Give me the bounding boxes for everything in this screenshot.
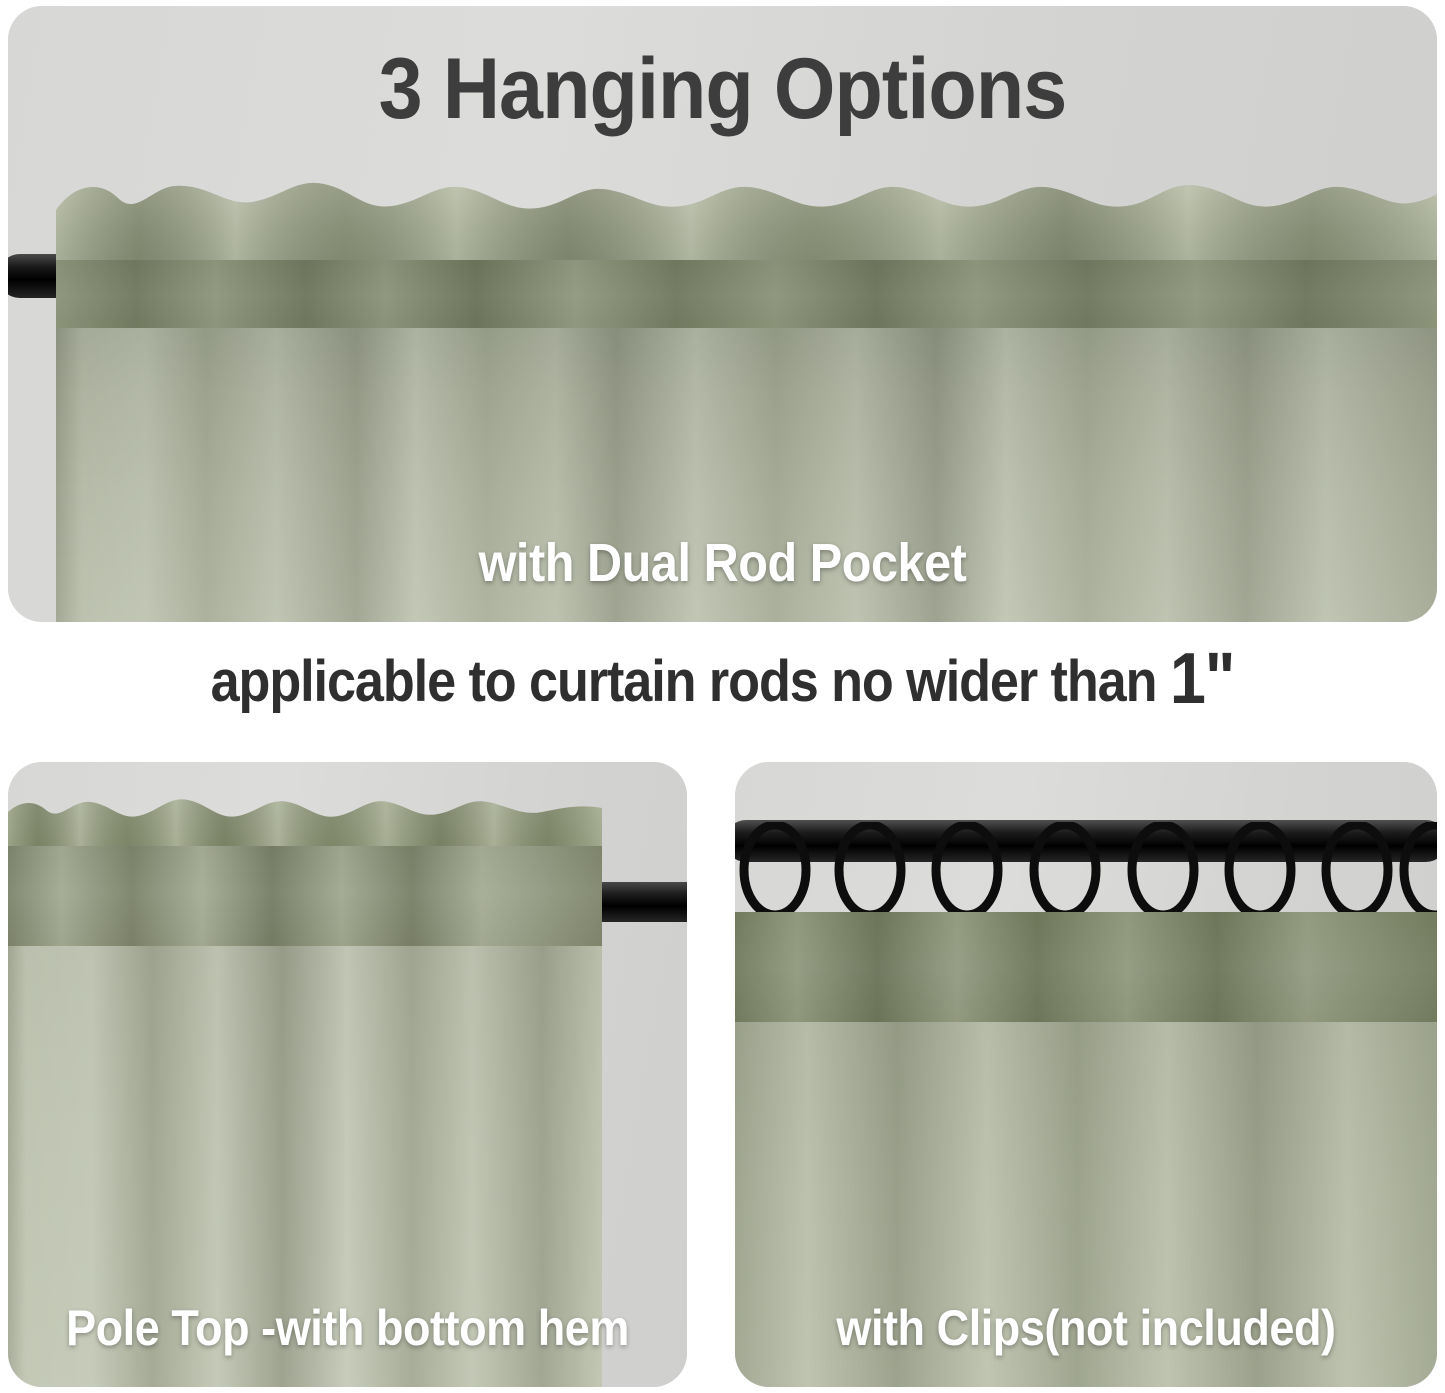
sheer-header-band xyxy=(735,912,1437,1024)
caption-pole-top: Pole Top -with bottom hem xyxy=(42,1299,653,1357)
panel-dual-rod-pocket: 3 Hanging Options with Dual Rod Pocket xyxy=(8,6,1437,622)
panel-pole-top: Pole Top -with bottom hem xyxy=(8,762,687,1387)
caption-clip-rings: with Clips(not included) xyxy=(770,1299,1402,1357)
caption-dual-rod-pocket: with Dual Rod Pocket xyxy=(79,532,1365,594)
panel-clip-rings: with Clips(not included) xyxy=(735,762,1437,1387)
page-title: 3 Hanging Options xyxy=(65,40,1380,139)
rod-width-measurement: 1" xyxy=(1170,639,1235,719)
rod-width-note: applicable to curtain rods no wider than… xyxy=(72,638,1373,720)
curtain-pole-top xyxy=(8,790,602,1387)
rod-pocket-band xyxy=(8,846,602,948)
rod-width-note-text: applicable to curtain rods no wider than xyxy=(211,649,1157,714)
infographic-root: 3 Hanging Options with Dual Rod Pocket a… xyxy=(0,0,1445,1393)
